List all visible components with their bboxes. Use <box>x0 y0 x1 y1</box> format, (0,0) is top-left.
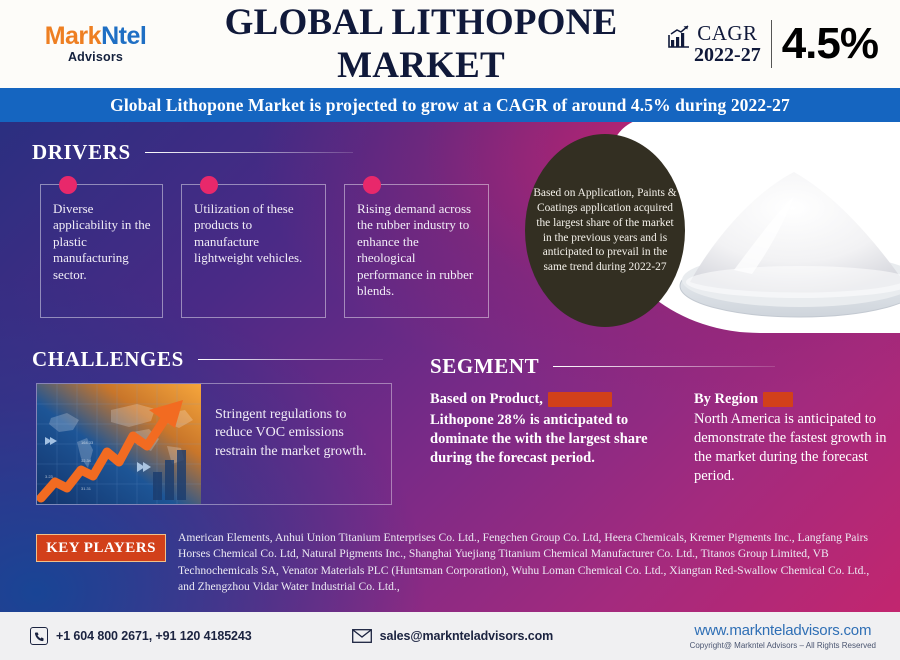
footer-copyright: Copyright@ Markntel Advisors – All Right… <box>690 641 876 650</box>
drivers-title: DRIVERS <box>32 140 131 165</box>
key-players-badge-label: KEY PLAYERS <box>46 540 156 557</box>
svg-text:32.34: 32.34 <box>81 458 92 463</box>
footer-phone[interactable]: +1 604 800 2671, +91 120 4185243 <box>30 627 252 645</box>
logo-subtitle: Advisors <box>26 50 165 64</box>
footer-email-text: sales@marknteladvisors.com <box>380 629 554 643</box>
driver-bullet-dot <box>200 176 218 194</box>
challenges-box: 164.33 32.34 31.31 3.23 <box>36 383 392 505</box>
cagr-label: CAGR <box>694 22 761 44</box>
redaction-bar <box>548 392 612 407</box>
challenges-text: Stringent regulations to reduce VOC emis… <box>201 384 391 504</box>
driver-card: Utilization of these products to manufac… <box>181 184 326 318</box>
driver-bullet-dot <box>59 176 77 194</box>
logo-wordmark: MarkNtel <box>26 24 165 49</box>
cagr-label-group: CAGR 2022-27 <box>667 22 761 66</box>
segment-by-region: By Region North America is anticipated t… <box>694 390 890 485</box>
svg-text:164.33: 164.33 <box>81 440 94 445</box>
headline-banner-text: Global Lithopone Market is projected to … <box>110 95 790 116</box>
page-title: GLOBAL LITHOPONE MARKET <box>165 1 667 87</box>
driver-card: Rising demand across the rubber industry… <box>344 184 489 318</box>
phone-icon <box>30 627 48 645</box>
headline-banner: Global Lithopone Market is projected to … <box>0 88 900 122</box>
segment-rule <box>553 366 775 368</box>
footer-website-url[interactable]: www.marknteladvisors.com <box>690 622 876 639</box>
driver-bullet-dot <box>363 176 381 194</box>
segment-heading: SEGMENT <box>430 354 775 379</box>
infographic-page: MarkNtel Advisors GLOBAL LITHOPONE MARKE… <box>0 0 900 660</box>
segment-product-body: Lithopone 28% is anticipated to dominate… <box>430 411 670 468</box>
cagr-period: 2022-27 <box>694 44 761 66</box>
challenges-heading: CHALLENGES <box>32 347 383 372</box>
growth-arrow-world-map-image: 164.33 32.34 31.31 3.23 <box>37 384 201 504</box>
footer-website-block[interactable]: www.marknteladvisors.com Copyright@ Mark… <box>690 622 876 650</box>
segment-region-lead: By Region <box>694 391 758 407</box>
footer-phone-text: +1 604 800 2671, +91 120 4185243 <box>56 629 252 643</box>
cagr-text-group: CAGR 2022-27 <box>694 22 761 66</box>
svg-text:3.23: 3.23 <box>45 474 54 479</box>
key-players-badge: KEY PLAYERS <box>36 534 166 562</box>
cagr-value: 4.5% <box>782 22 878 66</box>
application-callout-text: Based on Application, Paints & Coatings … <box>533 186 677 275</box>
application-callout-badge: Based on Application, Paints & Coatings … <box>525 134 685 327</box>
lithopone-powder-image <box>674 154 900 324</box>
challenges-title: CHALLENGES <box>32 347 184 372</box>
driver-text: Rising demand across the rubber industry… <box>357 201 478 299</box>
segment-region-body: North America is anticipated to demonstr… <box>694 410 890 485</box>
footer-email[interactable]: sales@marknteladvisors.com <box>352 627 554 645</box>
segment-title: SEGMENT <box>430 354 539 379</box>
challenges-rule <box>198 359 383 361</box>
body-panel: DRIVERS Diverse applicability in the pla… <box>0 122 900 612</box>
logo-mark-text: Mark <box>45 22 101 50</box>
key-players-list: American Elements, Anhui Union Titanium … <box>178 530 878 596</box>
footer-bar: +1 604 800 2671, +91 120 4185243 sales@m… <box>0 612 900 660</box>
svg-text:31.31: 31.31 <box>81 486 92 491</box>
redaction-bar <box>763 392 793 407</box>
segment-product-lead: Based on Product, <box>430 391 543 407</box>
envelope-icon <box>352 627 372 645</box>
drivers-list: Diverse applicability in the plastic man… <box>40 184 489 318</box>
company-logo: MarkNtel Advisors <box>0 24 165 64</box>
drivers-heading: DRIVERS <box>32 140 353 165</box>
logo-ntel-text: Ntel <box>101 22 146 50</box>
driver-text: Utilization of these products to manufac… <box>194 201 315 267</box>
challenges-image-wrap: 164.33 32.34 31.31 3.23 <box>37 384 201 504</box>
bar-chart-growth-icon <box>667 25 691 53</box>
drivers-rule <box>145 152 353 154</box>
driver-card: Diverse applicability in the plastic man… <box>40 184 163 318</box>
segment-by-product: Based on Product, Lithopone 28% is antic… <box>430 390 670 485</box>
segment-columns: Based on Product, Lithopone 28% is antic… <box>430 390 890 485</box>
driver-text: Diverse applicability in the plastic man… <box>53 201 152 283</box>
cagr-block: CAGR 2022-27 4.5% <box>667 20 900 68</box>
header-bar: MarkNtel Advisors GLOBAL LITHOPONE MARKE… <box>0 0 900 88</box>
cagr-divider <box>771 20 772 68</box>
